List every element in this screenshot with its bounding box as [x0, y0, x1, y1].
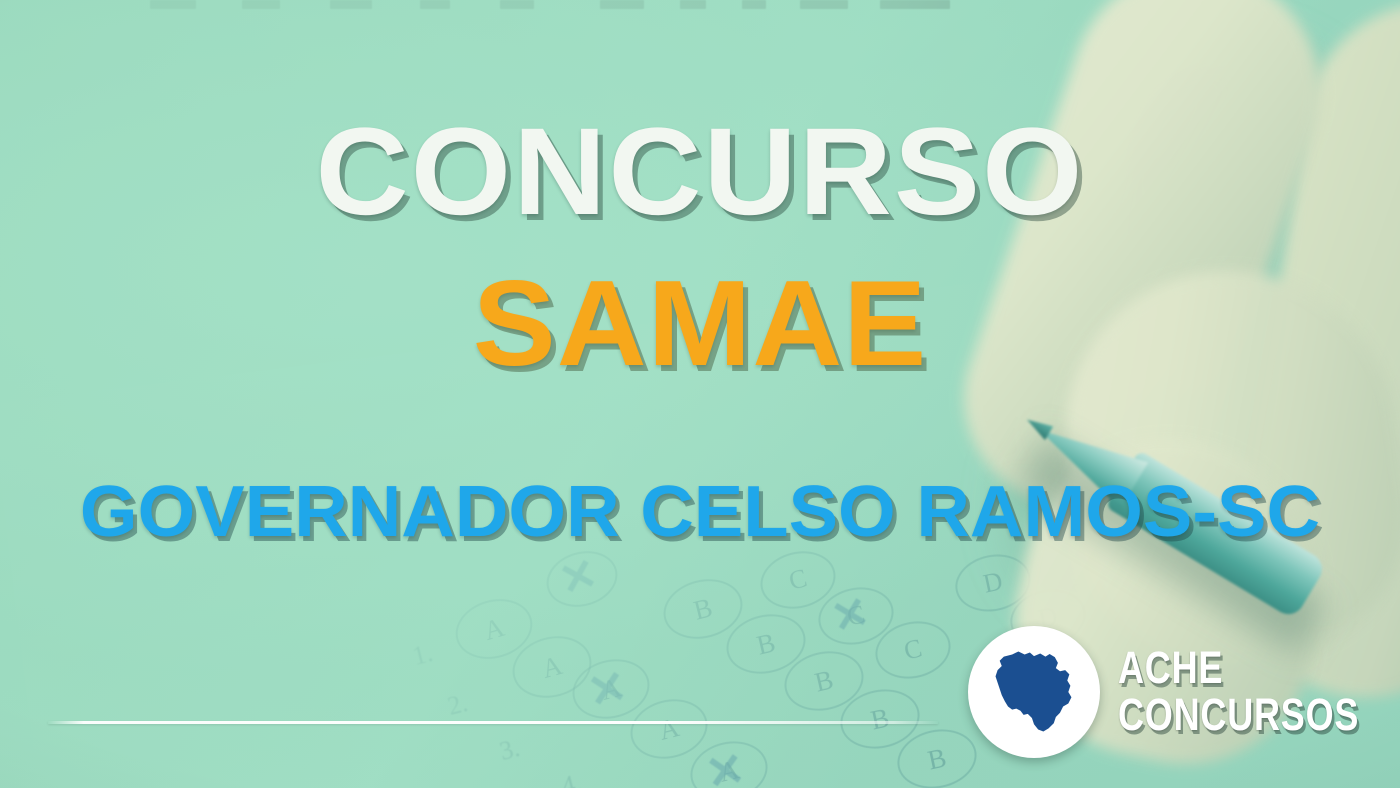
headline-concurso: CONCURSO [0, 110, 1400, 234]
logo-circle [968, 626, 1100, 758]
headline-city: GOVERNADOR CELSO RAMOS-SC [0, 476, 1400, 548]
promo-banner: 1. 2. 3. 4. A A A A A B B B B B C C C D … [0, 0, 1400, 788]
logo-word-concursos: CONCURSOS [1118, 694, 1359, 737]
logo-word-ache: ACHE [1118, 647, 1359, 690]
divider-rule [48, 721, 938, 724]
brazil-map-icon [982, 640, 1086, 744]
logo-wordmark: ACHE CONCURSOS [1118, 647, 1400, 737]
headline-samae: SAMAE [0, 262, 1400, 384]
ache-concursos-logo[interactable]: ACHE CONCURSOS [968, 626, 1400, 758]
